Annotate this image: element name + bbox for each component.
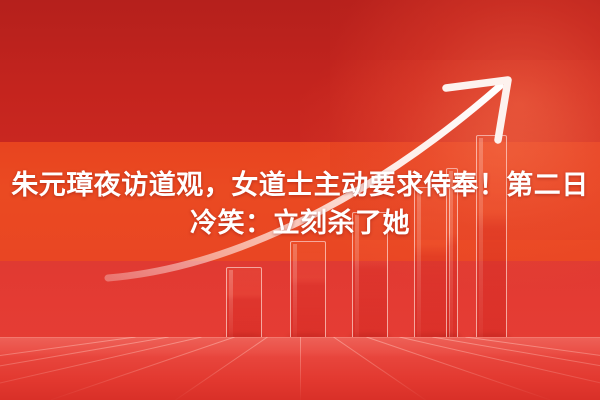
banner-canvas: 朱元璋夜访道观，女道士主动要求侍奉！第二日冷笑：立刻杀了她	[0, 0, 600, 400]
floor-plane	[0, 337, 600, 400]
bar-2	[290, 241, 326, 337]
floor-line	[300, 337, 301, 400]
background-band-top	[0, 0, 600, 142]
page-title: 朱元璋夜访道观，女道士主动要求侍奉！第二日冷笑：立刻杀了她	[0, 166, 600, 242]
bar-1	[226, 267, 262, 337]
